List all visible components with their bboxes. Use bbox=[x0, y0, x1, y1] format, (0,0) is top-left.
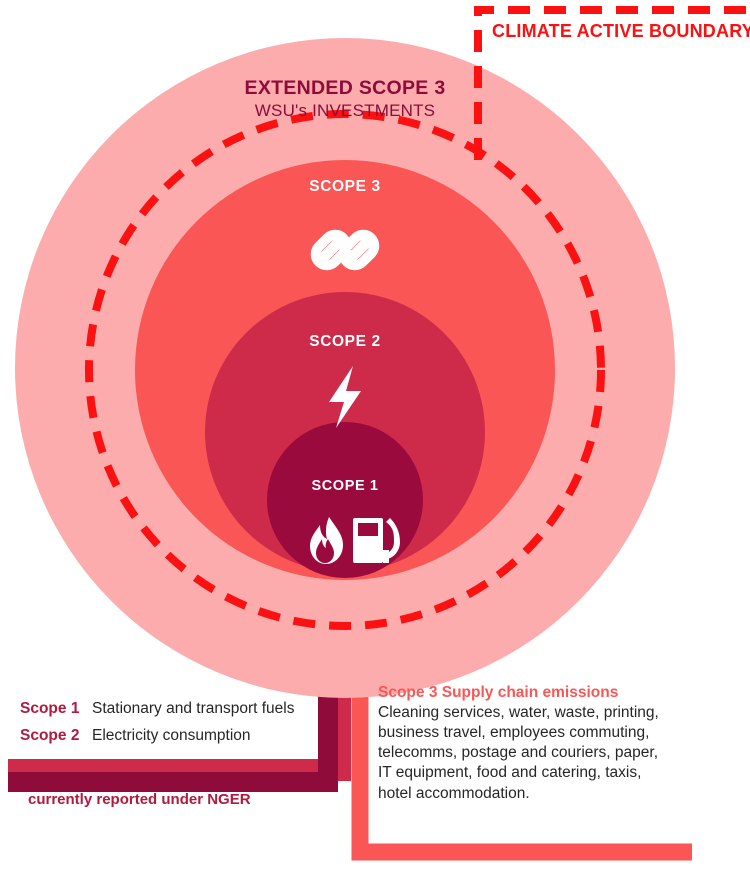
legend-value: Stationary and transport fuels bbox=[92, 700, 294, 718]
legend-row: Scope 1 Stationary and transport fuels bbox=[20, 700, 340, 718]
legend-row: Scope 2 Electricity consumption bbox=[20, 727, 340, 745]
legend-key: Scope 2 bbox=[20, 727, 92, 745]
legend-value: Electricity consumption bbox=[92, 727, 251, 745]
extended-scope-3-label: EXTENDED SCOPE 3 WSU's INVESTMENTS bbox=[175, 78, 515, 120]
climate-active-boundary-label: CLIMATE ACTIVE BOUNDARY bbox=[492, 21, 750, 42]
scope-3-label: SCOPE 3 bbox=[245, 178, 445, 195]
scope-1-label: SCOPE 1 bbox=[245, 478, 445, 494]
scope-emissions-diagram: EXTENDED SCOPE 3 WSU's INVESTMENTS SCOPE… bbox=[0, 0, 750, 869]
scope-3-legend-heading: Scope 3 Supply chain emissions bbox=[378, 684, 668, 702]
legend-key: Scope 1 bbox=[20, 700, 92, 718]
scope-1-circle bbox=[267, 422, 423, 578]
nger-note: currently reported under NGER bbox=[28, 791, 251, 808]
scope-3-legend-body: Cleaning services, water, waste, printin… bbox=[378, 703, 668, 804]
extended-scope-3-subtitle: WSU's INVESTMENTS bbox=[175, 101, 515, 120]
scope-2-label: SCOPE 2 bbox=[245, 333, 445, 350]
extended-scope-3-title: EXTENDED SCOPE 3 bbox=[175, 78, 515, 100]
scope-3-legend: Scope 3 Supply chain emissions Cleaning … bbox=[378, 684, 668, 804]
nger-legend: Scope 1 Stationary and transport fuels S… bbox=[20, 700, 340, 754]
